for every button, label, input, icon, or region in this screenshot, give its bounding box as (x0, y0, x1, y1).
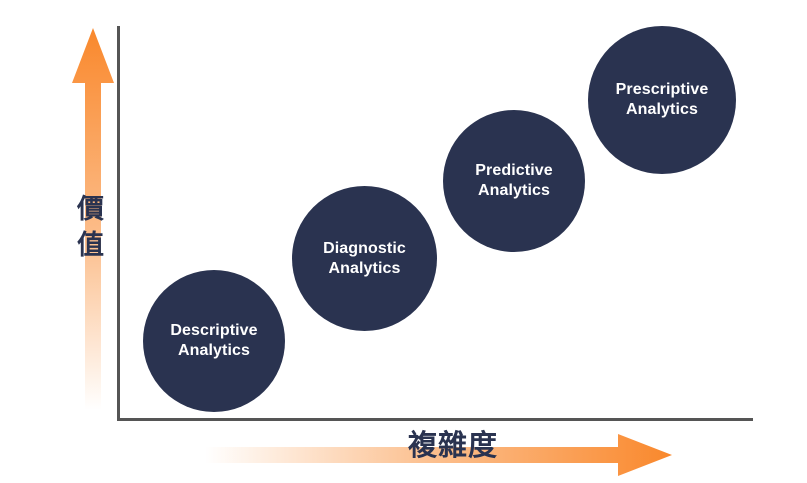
diagram-canvas: 價 值 複雜度 Descriptive Analytics Diagnostic… (0, 0, 807, 483)
bubble-label-line-2: Analytics (323, 259, 406, 279)
bubble-label-line-1: Diagnostic (323, 239, 406, 259)
bubble-prescriptive-analytics[interactable]: Prescriptive Analytics (588, 26, 736, 174)
bubble-label-line-2: Analytics (475, 181, 552, 201)
bubble-descriptive-analytics[interactable]: Descriptive Analytics (143, 270, 285, 412)
bubble-label-line-2: Analytics (616, 100, 709, 120)
x-axis-title: 複雜度 (408, 432, 498, 461)
bubble-label-line-1: Prescriptive (616, 80, 709, 100)
bubble-label-line-1: Predictive (475, 161, 552, 181)
y-axis-title-char-1: 價 (74, 192, 108, 228)
bubble-predictive-analytics[interactable]: Predictive Analytics (443, 110, 585, 252)
y-axis-title: 價 值 (74, 192, 108, 263)
y-axis-title-char-2: 值 (74, 228, 108, 264)
bubble-diagnostic-analytics[interactable]: Diagnostic Analytics (292, 186, 437, 331)
bubble-label-line-2: Analytics (170, 341, 257, 361)
bubble-label-line-1: Descriptive (170, 321, 257, 341)
